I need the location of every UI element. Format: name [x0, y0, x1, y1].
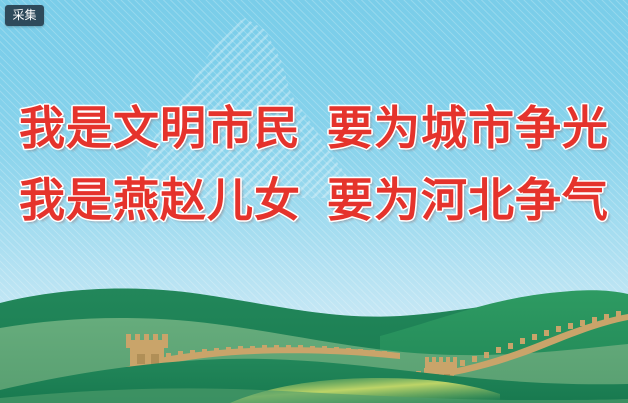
slogan-line-1-left: 我是文明市民 — [19, 101, 301, 155]
banner-image: 我是文明市民要为城市争光 我是燕赵儿女要为河北争气 采集 — [0, 0, 628, 403]
slogan-line-2-right: 要为河北争气 — [327, 173, 609, 227]
capture-button[interactable]: 采集 — [5, 5, 44, 26]
slogan-line-2: 我是燕赵儿女要为河北争气 — [0, 164, 628, 236]
slogan-line-1-right: 要为城市争光 — [327, 101, 609, 155]
slogan-line-2-left: 我是燕赵儿女 — [19, 173, 301, 227]
slogan-line-1: 我是文明市民要为城市争光 — [0, 92, 628, 164]
slogan-text-block: 我是文明市民要为城市争光 我是燕赵儿女要为河北争气 — [0, 92, 628, 236]
